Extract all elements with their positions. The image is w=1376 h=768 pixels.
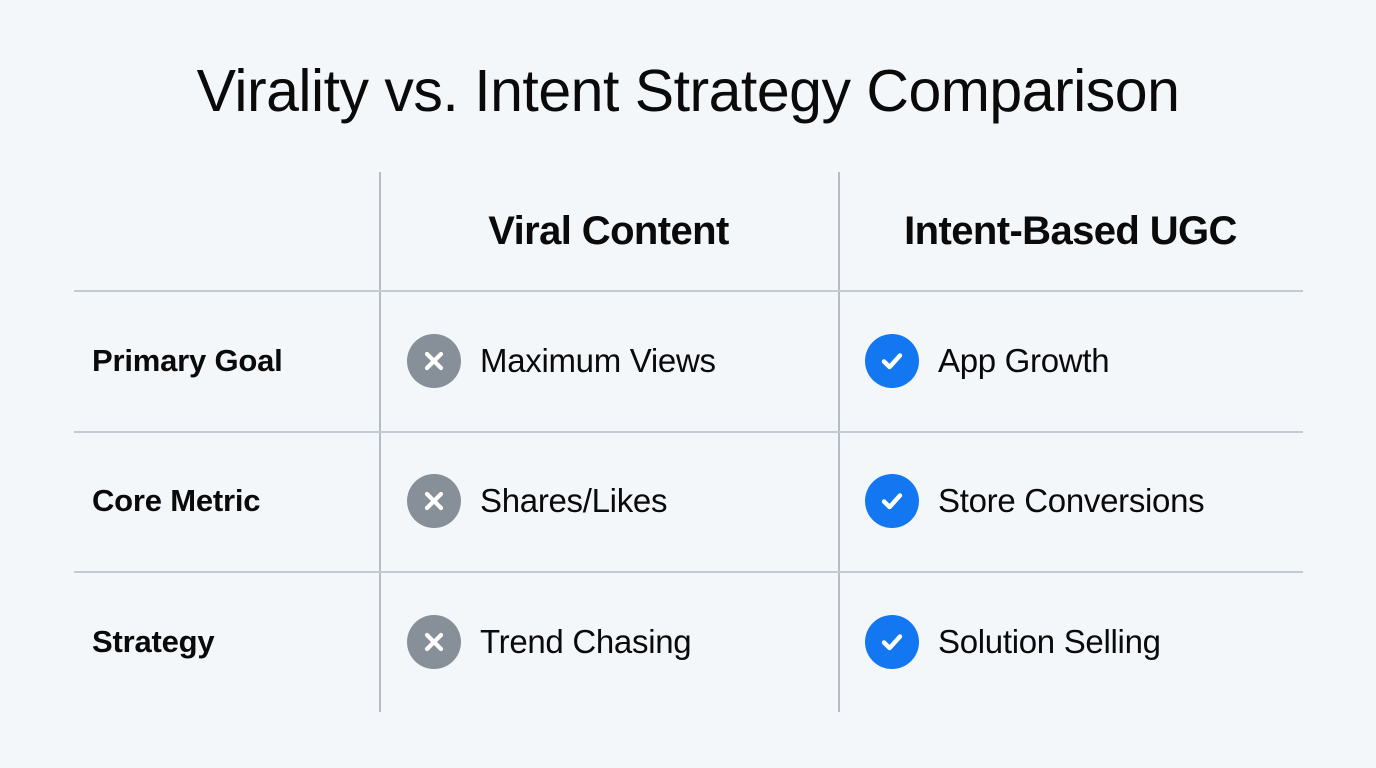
table-grid: Viral Content Intent-Based UGC Primary G… xyxy=(74,172,1303,712)
row-label-core-metric: Core Metric xyxy=(74,431,379,571)
check-circle-icon xyxy=(865,615,919,669)
comparison-page: Virality vs. Intent Strategy Comparison … xyxy=(0,0,1376,768)
row-label-strategy: Strategy xyxy=(74,571,379,712)
check-circle-icon xyxy=(865,334,919,388)
check-circle-icon xyxy=(865,474,919,528)
cross-circle-icon xyxy=(407,615,461,669)
table-cell-text: App Growth xyxy=(938,342,1109,380)
table-cell-text: Store Conversions xyxy=(938,482,1204,520)
page-title: Virality vs. Intent Strategy Comparison xyxy=(0,58,1376,124)
table-cell-viral-core-metric: Shares/Likes xyxy=(379,431,838,571)
column-header-viral: Viral Content xyxy=(379,172,838,290)
table-corner-cell xyxy=(74,172,379,290)
table-cell-text: Shares/Likes xyxy=(480,482,667,520)
table-cell-intent-core-metric: Store Conversions xyxy=(838,431,1303,571)
table-cell-intent-strategy: Solution Selling xyxy=(838,571,1303,712)
table-cell-text: Solution Selling xyxy=(938,623,1161,661)
table-cell-viral-primary-goal: Maximum Views xyxy=(379,290,838,431)
cross-circle-icon xyxy=(407,474,461,528)
column-header-intent: Intent-Based UGC xyxy=(838,172,1303,290)
table-cell-text: Trend Chasing xyxy=(480,623,691,661)
table-cell-viral-strategy: Trend Chasing xyxy=(379,571,838,712)
cross-circle-icon xyxy=(407,334,461,388)
comparison-table: Viral Content Intent-Based UGC Primary G… xyxy=(74,172,1303,712)
table-cell-text: Maximum Views xyxy=(480,342,716,380)
row-label-primary-goal: Primary Goal xyxy=(74,290,379,431)
table-cell-intent-primary-goal: App Growth xyxy=(838,290,1303,431)
